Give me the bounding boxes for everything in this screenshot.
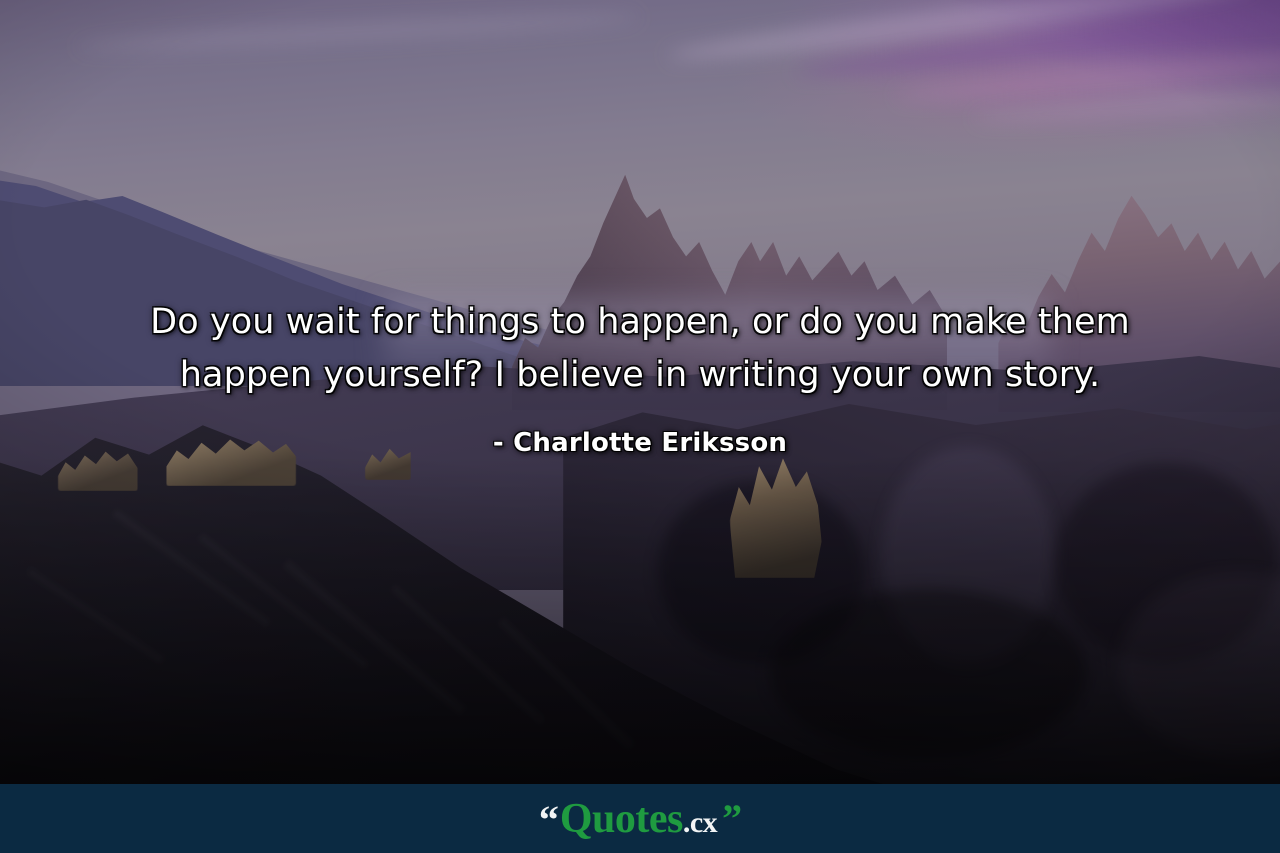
quote-text-block: Do you wait for things to happen, or do … (0, 296, 1280, 458)
footer-bar: “ Quotes .cx ” (0, 784, 1280, 853)
quote-image-card: Do you wait for things to happen, or do … (0, 0, 1280, 853)
scree-stripe (392, 585, 545, 724)
logo-word: Quotes (560, 798, 683, 840)
close-quote-icon: ” (722, 799, 741, 839)
quote-author: - Charlotte Eriksson (493, 428, 787, 458)
scree-stripe (198, 534, 368, 669)
open-quote-icon: “ (539, 800, 558, 840)
quote-text: Do you wait for things to happen, or do … (96, 296, 1184, 402)
scree-stripe (27, 568, 164, 663)
logo-tld: .cx (683, 808, 717, 838)
gully-shadow (770, 589, 1087, 757)
cloud-streak (77, 8, 640, 55)
scree-stripe (283, 560, 465, 715)
quotes-cx-logo[interactable]: “ Quotes .cx ” (539, 798, 741, 840)
